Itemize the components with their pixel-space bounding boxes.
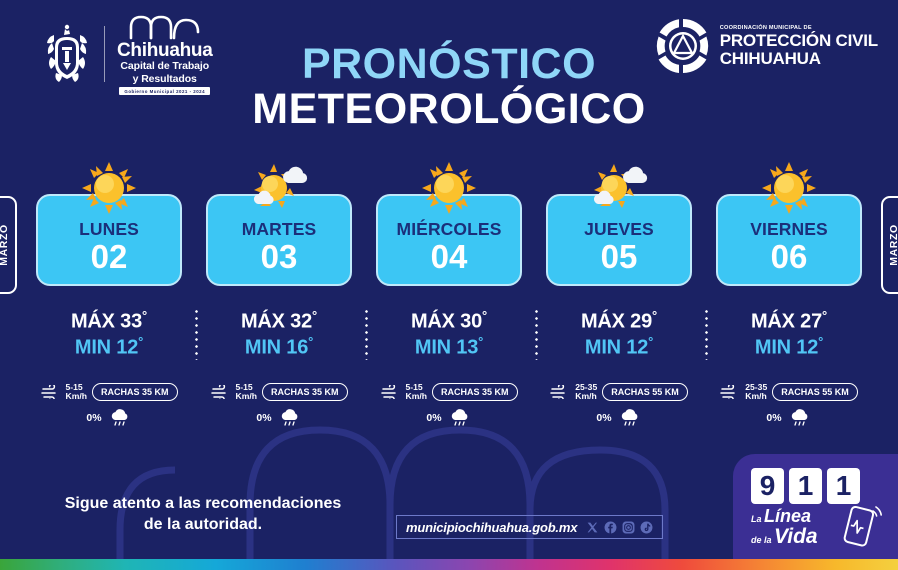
slogan-vida: Vida — [774, 525, 818, 548]
sun-icon — [420, 160, 478, 216]
min-temperature: MIN 12° — [581, 334, 657, 360]
wind-speed: 5-15 Km/h — [406, 383, 427, 402]
rain-row: 0% — [766, 409, 811, 427]
min-temperature: MIN 13° — [411, 334, 487, 360]
rain-row: 0% — [86, 409, 131, 427]
temperatures: MÁX 32° MIN 16° — [241, 308, 317, 361]
wind-row: 25-35 Km/h RACHAS 55 KM — [550, 383, 688, 402]
rain-cloud-icon — [448, 409, 472, 427]
civil-protection-city: CHIHUAHUA — [720, 50, 878, 67]
month-tab-left-label: MARZO — [0, 224, 10, 266]
emergency-digit: 1 — [827, 468, 860, 504]
forecast-day-card: MARTES 03 MÁX 32° MIN 16° — [194, 160, 364, 427]
civil-protection-logo-icon — [655, 18, 711, 74]
weather-forecast-poster: Chihuahua Capital de Trabajo y Resultado… — [0, 0, 898, 570]
sun-icon — [760, 160, 818, 216]
slogan-la: La — [751, 514, 762, 524]
column-divider — [365, 308, 368, 360]
month-tab-left: MARZO — [0, 196, 17, 294]
max-temperature: MÁX 30° — [411, 308, 487, 334]
wind-row: 5-15 Km/h RACHAS 35 KM — [211, 383, 348, 402]
min-temperature: MIN 12° — [71, 334, 147, 360]
max-temperature: MÁX 29° — [581, 308, 657, 334]
rain-cloud-icon — [618, 409, 642, 427]
rain-cloud-icon — [108, 409, 132, 427]
day-name: VIERNES — [750, 221, 828, 239]
day-name: JUEVES — [584, 221, 654, 239]
facebook-icon[interactable] — [604, 521, 617, 534]
column-divider — [195, 308, 198, 360]
rain-cloud-icon — [788, 409, 812, 427]
day-name: LUNES — [79, 221, 139, 239]
max-temperature: MÁX 32° — [241, 308, 317, 334]
month-tab-right-label: MARZO — [888, 224, 898, 266]
min-temperature: MIN 16° — [241, 334, 317, 360]
max-temperature: MÁX 27° — [751, 308, 827, 334]
forecast-day-card: JUEVES 05 MÁX 29° MIN 12° — [534, 160, 704, 427]
title-line-2: METEOROLÓGICO — [0, 87, 898, 132]
min-temperature: MIN 12° — [751, 334, 827, 360]
wind-icon — [211, 385, 231, 399]
forecast-day-card: MIÉRCOLES 04 MÁX 30° MIN 13° — [364, 160, 534, 427]
wind-speed: 5-15 Km/h — [66, 383, 87, 402]
slogan-dela: de la — [751, 535, 772, 545]
emergency-slogan: La Línea de la Vida — [751, 507, 884, 547]
day-name: MARTES — [242, 221, 317, 239]
gust-badge: RACHAS 35 KM — [432, 383, 518, 401]
rain-probability: 0% — [426, 412, 441, 424]
temperatures: MÁX 30° MIN 13° — [411, 308, 487, 361]
wind-icon — [720, 385, 740, 399]
wind-row: 25-35 Km/h RACHAS 55 KM — [720, 383, 858, 402]
column-divider — [535, 308, 538, 360]
temperatures: MÁX 27° MIN 12° — [751, 308, 827, 361]
gust-badge: RACHAS 35 KM — [92, 383, 178, 401]
rain-probability: 0% — [256, 412, 271, 424]
gust-badge: RACHAS 55 KM — [602, 383, 688, 401]
chihuahua-m-logo-icon — [126, 14, 204, 40]
tiktok-icon[interactable] — [640, 521, 653, 534]
forecast-days-grid: LUNES 02 MÁX 33° MIN 12° — [24, 160, 874, 427]
rain-cloud-icon — [278, 409, 302, 427]
sun-cloud-icon — [588, 160, 650, 216]
sun-icon — [80, 160, 138, 216]
rainbow-strip — [0, 559, 898, 570]
website-bar[interactable]: municipiochihuahua.gob.mx — [396, 515, 663, 539]
column-divider — [705, 308, 708, 360]
header: Chihuahua Capital de Trabajo y Resultado… — [0, 0, 898, 150]
authority-message-line1: Sigue atento a las recomendaciones — [38, 494, 368, 515]
rain-row: 0% — [596, 409, 641, 427]
month-tab-right: MARZO — [881, 196, 898, 294]
rain-row: 0% — [256, 409, 301, 427]
emergency-911-badge[interactable]: 9 1 1 La Línea de la Vida — [733, 454, 898, 559]
forecast-day-card: VIERNES 06 MÁX 27° MIN 12° — [704, 160, 874, 427]
wind-icon — [550, 385, 570, 399]
social-links — [586, 521, 653, 534]
wind-speed: 5-15 Km/h — [236, 383, 257, 402]
gust-badge: RACHAS 55 KM — [772, 383, 858, 401]
emergency-digit: 1 — [789, 468, 822, 504]
emergency-digit: 9 — [751, 468, 784, 504]
emergency-number: 9 1 1 — [751, 468, 884, 504]
sun-cloud-icon — [248, 160, 310, 216]
authority-message: Sigue atento a las recomendaciones de la… — [38, 494, 368, 536]
phone-signal-icon — [842, 503, 882, 549]
instagram-icon[interactable] — [622, 521, 635, 534]
authority-message-line2: de la autoridad. — [38, 515, 368, 536]
wind-row: 5-15 Km/h RACHAS 35 KM — [381, 383, 518, 402]
forecast-day-card: LUNES 02 MÁX 33° MIN 12° — [24, 160, 194, 427]
rain-probability: 0% — [86, 412, 101, 424]
slogan-linea: Línea — [764, 506, 811, 526]
day-number: 02 — [91, 240, 128, 273]
rain-probability: 0% — [596, 412, 611, 424]
temperatures: MÁX 33° MIN 12° — [71, 308, 147, 361]
website-url[interactable]: municipiochihuahua.gob.mx — [406, 520, 577, 535]
day-number: 03 — [261, 240, 298, 273]
wind-icon — [41, 385, 61, 399]
day-number: 04 — [431, 240, 468, 273]
day-number: 05 — [601, 240, 638, 273]
temperatures: MÁX 29° MIN 12° — [581, 308, 657, 361]
wind-icon — [381, 385, 401, 399]
rain-probability: 0% — [766, 412, 781, 424]
wind-speed: 25-35 Km/h — [575, 383, 597, 402]
wind-row: 5-15 Km/h RACHAS 35 KM — [41, 383, 178, 402]
x-icon[interactable] — [586, 521, 599, 534]
civil-protection-name: PROTECCIÓN CIVIL — [720, 32, 878, 49]
civil-protection-logo: COORDINACIÓN MUNICIPAL DE PROTECCIÓN CIV… — [655, 18, 878, 74]
gust-badge: RACHAS 35 KM — [262, 383, 348, 401]
day-number: 06 — [771, 240, 808, 273]
wind-speed: 25-35 Km/h — [745, 383, 767, 402]
max-temperature: MÁX 33° — [71, 308, 147, 334]
rain-row: 0% — [426, 409, 471, 427]
day-name: MIÉRCOLES — [397, 221, 502, 239]
